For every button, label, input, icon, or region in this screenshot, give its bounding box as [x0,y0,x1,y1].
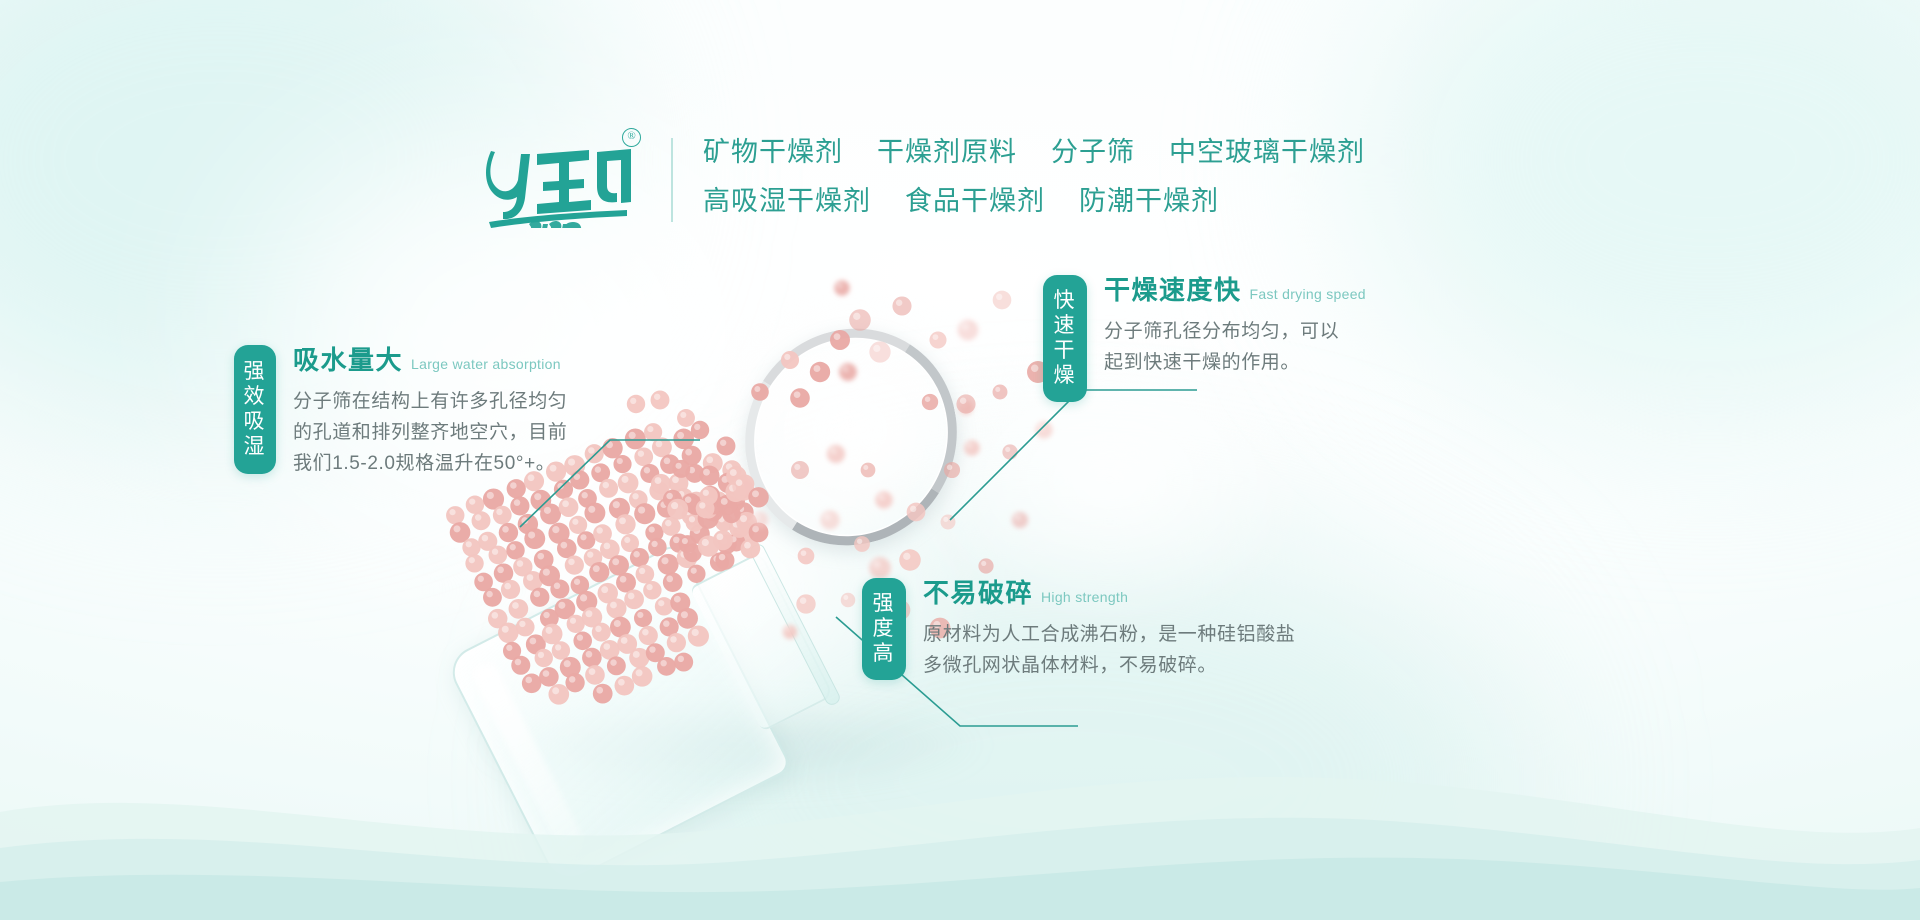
callout-text: 干燥速度快 Fast drying speed 分子筛孔径分布均匀，可以 起到快… [1104,275,1366,378]
callout-body: 分子筛在结构上有许多孔径均匀 的孔道和排列整齐地空穴，目前 我们1.5-2.0规… [293,386,567,479]
badge-char: 强 [862,591,906,616]
badge-char: 吸 [234,409,276,434]
callout-heading: 干燥速度快 Fast drying speed [1104,275,1366,305]
badge-char: 速 [1043,313,1087,338]
callout-body-line: 起到快速干燥的作用。 [1104,347,1366,378]
badge-high-strength: 强 度 高 [862,578,906,680]
badge-char: 湿 [234,434,276,459]
callout-body-line: 分子筛在结构上有许多孔径均匀 [293,386,567,417]
banner-stage: ® 矿物干燥剂 干燥剂原料 分子筛 中空玻璃干燥剂 高吸湿干燥剂 食品干燥剂 防… [0,0,1920,920]
callout-body: 分子筛孔径分布均匀，可以 起到快速干燥的作用。 [1104,316,1366,378]
callout-heading: 吸水量大 Large water absorption [293,345,567,375]
callout-heading: 不易破碎 High strength [923,578,1295,608]
callout-high-strength: 强 度 高 不易破碎 High strength 原材料为人工合成沸石粉，是一种… [862,578,1295,681]
callout-body-line: 多微孔网状晶体材料，不易破碎。 [923,650,1295,681]
callout-text: 不易破碎 High strength 原材料为人工合成沸石粉，是一种硅铝酸盐 多… [923,578,1295,681]
callout-body-line: 我们1.5-2.0规格温升在50°+。 [293,448,567,479]
callout-large-water-absorption: 强 效 吸 湿 吸水量大 Large water absorption 分子筛在… [234,345,567,479]
badge-char: 快 [1043,288,1087,313]
badge-fast-drying: 快 速 干 燥 [1043,275,1087,402]
connector-speed [950,390,1197,520]
callout-subtitle: Large water absorption [411,356,561,372]
callout-title: 吸水量大 [293,345,403,375]
callout-text: 吸水量大 Large water absorption 分子筛在结构上有许多孔径… [293,345,567,479]
badge-char: 度 [862,616,906,641]
badge-strong-moisture-absorption: 强 效 吸 湿 [234,345,276,474]
badge-char: 强 [234,359,276,384]
bottom-waves [0,720,1920,920]
badge-char: 效 [234,384,276,409]
callout-body-line: 分子筛孔径分布均匀，可以 [1104,316,1366,347]
badge-char: 高 [862,641,906,666]
callout-body: 原材料为人工合成沸石粉，是一种硅铝酸盐 多微孔网状晶体材料，不易破碎。 [923,619,1295,681]
callout-body-line: 的孔道和排列整齐地空穴，目前 [293,417,567,448]
callout-subtitle: High strength [1041,589,1128,605]
badge-char: 燥 [1043,363,1087,388]
callout-title: 干燥速度快 [1104,275,1242,305]
callout-body-line: 原材料为人工合成沸石粉，是一种硅铝酸盐 [923,619,1295,650]
callout-subtitle: Fast drying speed [1250,286,1366,302]
badge-char: 干 [1043,338,1087,363]
callout-title: 不易破碎 [923,578,1033,608]
callout-fast-drying-speed: 快 速 干 燥 干燥速度快 Fast drying speed 分子筛孔径分布均… [1043,275,1366,402]
